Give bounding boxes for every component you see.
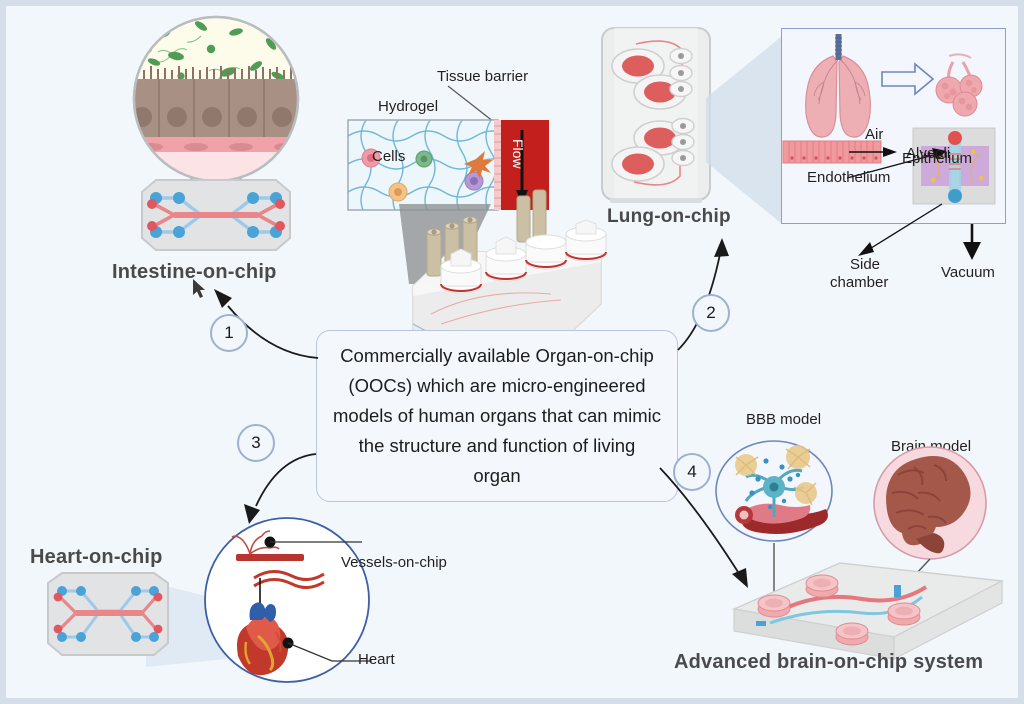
figure-canvas: Intestine-on-chip xyxy=(0,0,1024,704)
step-number-1: 1 xyxy=(210,314,248,352)
brain-on-chip-illustration xyxy=(712,431,1022,681)
heart-magnifier-illustration xyxy=(202,516,452,686)
arrow-to-heart xyxy=(256,454,316,506)
heart-chip-device xyxy=(26,571,226,681)
step-number-3: 3 xyxy=(237,424,275,462)
vessels-on-chip-label: Vessels-on-chip xyxy=(341,554,447,571)
step-number-2: 2 xyxy=(692,294,730,332)
heart-on-chip-title: Heart-on-chip xyxy=(30,546,163,569)
heart-label: Heart xyxy=(358,651,395,668)
bbb-model-label: BBB model xyxy=(746,411,821,428)
brain-on-chip-title: Advanced brain-on-chip system xyxy=(674,651,983,674)
step-number-4: 4 xyxy=(673,453,711,491)
